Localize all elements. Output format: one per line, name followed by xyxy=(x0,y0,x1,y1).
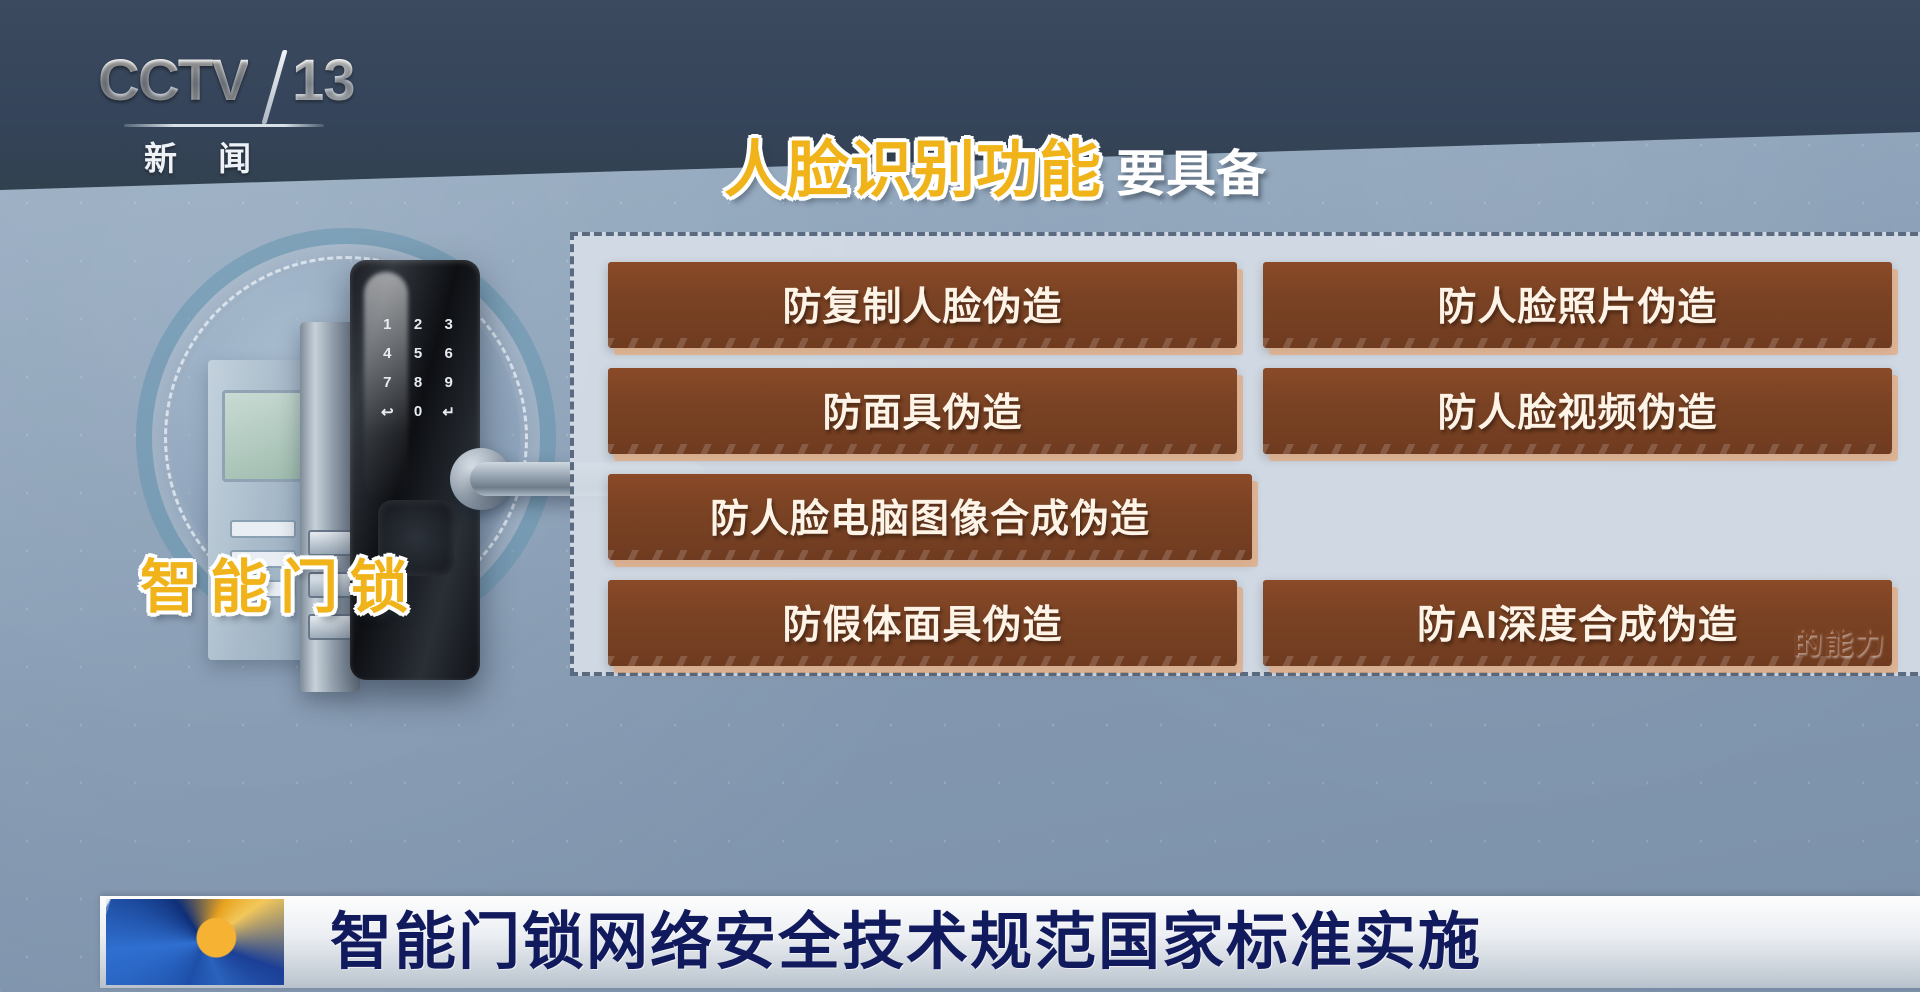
headline-sub-text: 要具备 xyxy=(1116,149,1266,202)
keypad-key: 0 xyxy=(414,403,422,420)
keypad-key: 5 xyxy=(414,345,422,362)
cctv13-logo-icon: CCTV 13 新 闻 xyxy=(96,52,346,162)
product-label: 智能门锁 xyxy=(140,540,420,624)
keypad-key: 1 xyxy=(383,316,391,333)
feature-pill[interactable]: 防人脸电脑图像合成伪造 xyxy=(608,474,1252,560)
feature-pill[interactable]: 防面具伪造 xyxy=(608,368,1237,454)
feature-pill[interactable]: 防人脸照片伪造 xyxy=(1263,262,1892,348)
keypad-key: 8 xyxy=(414,374,422,391)
keypad-key: 7 xyxy=(383,374,391,391)
keypad-key: ↵ xyxy=(442,403,455,421)
feature-rows: 防复制人脸伪造防人脸照片伪造防面具伪造防人脸视频伪造防人脸电脑图像合成伪造防假体… xyxy=(608,262,1892,666)
channel-number: 13 xyxy=(292,52,355,110)
channel-subtitle: 新 闻 xyxy=(144,132,267,180)
keypad-key: 2 xyxy=(414,316,422,333)
feature-panel: 防复制人脸伪造防人脸照片伪造防面具伪造防人脸视频伪造防人脸电脑图像合成伪造防假体… xyxy=(570,232,1920,676)
feature-row: 防假体面具伪造防AI深度合成伪造 xyxy=(608,580,1892,666)
feature-pill[interactable]: 防假体面具伪造 xyxy=(608,580,1237,666)
feature-row: 防复制人脸伪造防人脸照片伪造 xyxy=(608,262,1892,348)
logo-divider-slash xyxy=(261,50,287,124)
door-screen xyxy=(222,390,304,482)
globe-sweep xyxy=(106,899,284,985)
door-bolt-slot xyxy=(230,520,296,538)
keypad-key: 9 xyxy=(444,374,452,391)
feature-pill[interactable]: 防复制人脸伪造 xyxy=(608,262,1237,348)
cctv-wordmark: CCTV xyxy=(98,52,248,110)
keypad-key: 4 xyxy=(383,345,391,362)
news-ticker: 智能门锁网络安全技术规范国家标准实施 xyxy=(0,874,1920,992)
keypad-key: 3 xyxy=(444,316,452,333)
feature-row: 防人脸电脑图像合成伪造 xyxy=(608,474,1892,560)
keypad-key: 6 xyxy=(444,345,452,362)
ticker-headline-text: 智能门锁网络安全技术规范国家标准实施 xyxy=(330,904,1482,982)
keypad-key: ↩ xyxy=(381,403,394,421)
feature-pill[interactable]: 防人脸视频伪造 xyxy=(1263,368,1892,454)
panel-footer-note: 的能力 xyxy=(1793,620,1886,662)
keypad: 123456789↩0↵ xyxy=(372,310,464,455)
cctv-news-globe-icon xyxy=(106,899,284,985)
smart-door-lock-illustration: 123456789↩0↵ xyxy=(120,200,620,720)
headline-main-text: 人脸识别功能 xyxy=(724,140,1102,202)
logo-underline xyxy=(124,124,324,127)
feature-row: 防面具伪造防人脸视频伪造 xyxy=(608,368,1892,454)
headline-group: 人脸识别功能 要具备 xyxy=(724,140,1266,202)
